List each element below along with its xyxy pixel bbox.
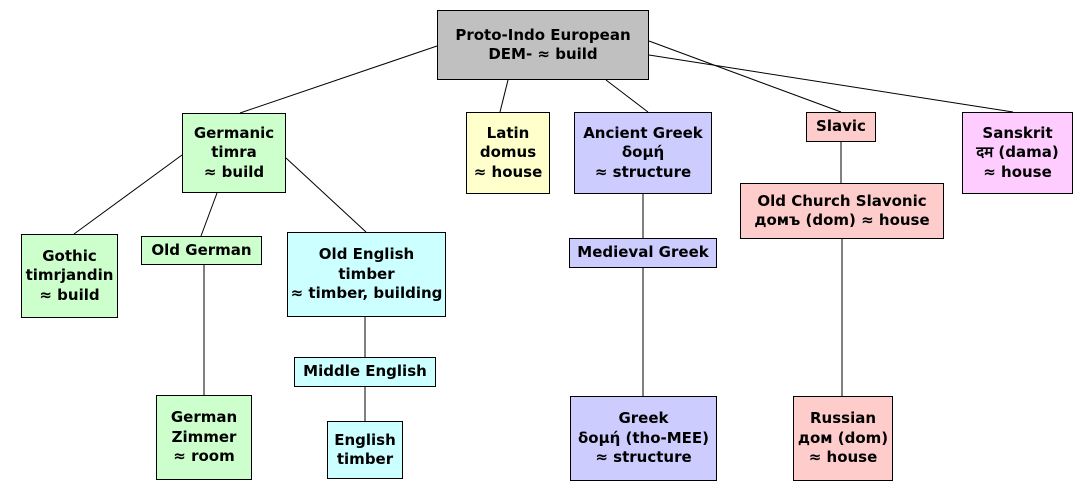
node-old-english[interactable]: Old Englishtimber≈ timber, building xyxy=(287,232,446,317)
edge-pie-to-germanic xyxy=(240,46,437,113)
node-old-church-slavonic[interactable]: Old Church Slavonicдомъ (dom) ≈ house xyxy=(740,183,944,239)
node-german-line-1: German xyxy=(171,408,237,428)
node-old-english-line-3: ≈ timber, building xyxy=(291,284,443,304)
node-germanic-line-1: Germanic xyxy=(194,124,274,144)
node-slavic-line-1: Slavic xyxy=(816,117,866,137)
node-ancient-greek-line-1: Ancient Greek xyxy=(583,124,703,144)
edge-germanic-to-old-german xyxy=(201,193,217,236)
node-russian[interactable]: Russianдом (dom)≈ house xyxy=(793,396,893,481)
node-german[interactable]: GermanZimmer≈ room xyxy=(156,395,252,480)
node-middle-english[interactable]: Middle English xyxy=(294,357,436,387)
node-gothic-line-1: Gothic xyxy=(42,247,97,267)
node-russian-line-3: ≈ house xyxy=(809,448,878,468)
node-middle-english-line-1: Middle English xyxy=(303,362,427,382)
node-germanic-line-3: ≈ build xyxy=(204,163,264,183)
node-greek-line-3: ≈ structure xyxy=(595,448,691,468)
node-sanskrit[interactable]: Sanskritदम (dama)≈ house xyxy=(962,112,1073,194)
node-russian-line-1: Russian xyxy=(810,409,876,429)
edge-pie-to-slavic xyxy=(649,41,841,112)
node-sanskrit-line-1: Sanskrit xyxy=(982,124,1052,144)
edge-pie-to-latin xyxy=(500,80,508,112)
node-german-line-2: Zimmer xyxy=(172,428,237,448)
node-russian-line-2: дом (dom) xyxy=(798,429,888,449)
node-latin[interactable]: Latindomus≈ house xyxy=(466,112,550,194)
node-ancient-greek-line-3: ≈ structure xyxy=(595,163,691,183)
node-proto-indo-european-line-2: DEM- ≈ build xyxy=(488,45,597,65)
node-english-line-2: timber xyxy=(337,450,393,470)
node-gothic-line-2: timrjandin xyxy=(26,266,114,286)
node-old-german-line-1: Old German xyxy=(151,241,251,261)
edge-pie-to-sanskrit xyxy=(649,55,1013,112)
node-old-church-slavonic-line-2: домъ (dom) ≈ house xyxy=(754,211,929,231)
node-latin-line-2: domus xyxy=(480,143,536,163)
node-slavic[interactable]: Slavic xyxy=(806,112,876,142)
node-sanskrit-line-2: दम (dama) xyxy=(976,143,1058,163)
node-germanic-line-2: timra xyxy=(211,143,256,163)
node-latin-line-3: ≈ house xyxy=(474,163,543,183)
node-english[interactable]: Englishtimber xyxy=(327,421,403,479)
node-old-german[interactable]: Old German xyxy=(141,236,262,265)
node-english-line-1: English xyxy=(334,431,396,451)
node-latin-line-1: Latin xyxy=(487,124,530,144)
node-medieval-greek-line-1: Medieval Greek xyxy=(577,243,708,263)
node-greek-line-1: Greek xyxy=(618,409,668,429)
node-medieval-greek[interactable]: Medieval Greek xyxy=(569,238,717,268)
node-proto-indo-european[interactable]: Proto-Indo EuropeanDEM- ≈ build xyxy=(437,10,649,80)
node-greek[interactable]: Greekδομή (tho-MEE)≈ structure xyxy=(570,396,717,481)
node-old-church-slavonic-line-1: Old Church Slavonic xyxy=(757,192,926,212)
node-sanskrit-line-3: ≈ house xyxy=(983,163,1052,183)
edge-germanic-to-old-english xyxy=(286,158,366,232)
node-greek-line-2: δομή (tho-MEE) xyxy=(578,429,709,449)
node-old-english-line-2: timber xyxy=(338,265,394,285)
node-germanic[interactable]: Germanictimra≈ build xyxy=(182,113,286,193)
edge-pie-to-ancient-greek xyxy=(606,80,648,112)
node-proto-indo-european-line-1: Proto-Indo European xyxy=(455,26,630,46)
node-ancient-greek[interactable]: Ancient Greekδομή≈ structure xyxy=(574,112,712,194)
node-gothic[interactable]: Gothictimrjandin≈ build xyxy=(21,234,118,318)
node-gothic-line-3: ≈ build xyxy=(39,286,99,306)
node-old-english-line-1: Old English xyxy=(319,245,414,265)
node-ancient-greek-line-2: δομή xyxy=(622,143,664,163)
node-german-line-3: ≈ room xyxy=(173,447,234,467)
etymology-diagram: Proto-Indo EuropeanDEM- ≈ buildGermanict… xyxy=(0,0,1088,501)
edge-germanic-to-gothic xyxy=(74,155,182,234)
